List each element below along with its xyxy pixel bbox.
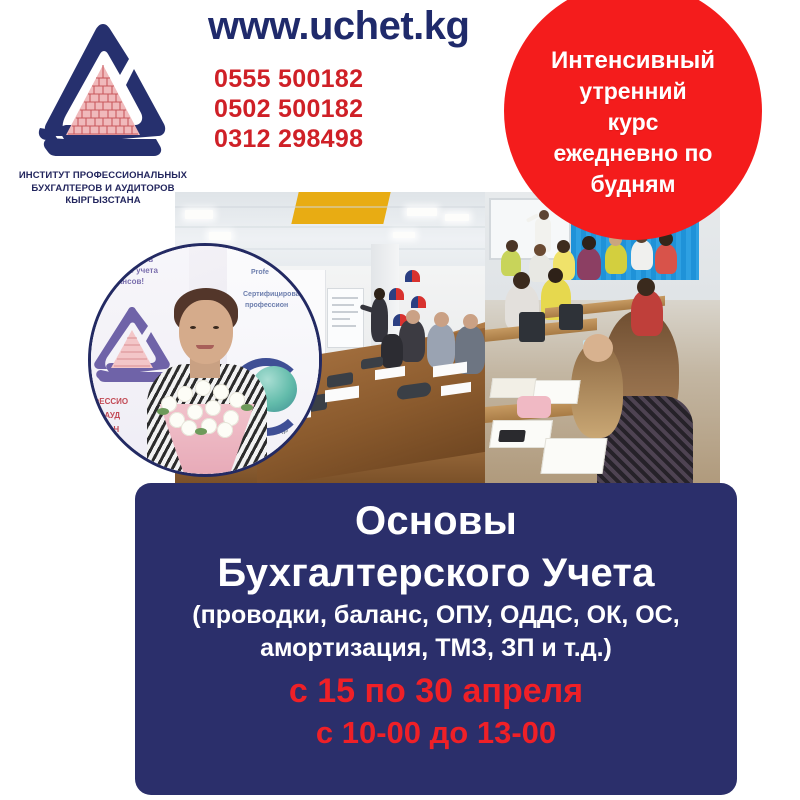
ceiling-seam: [175, 226, 485, 228]
student: [631, 240, 653, 270]
ceiling-seam: [175, 206, 485, 208]
participant-head: [406, 310, 420, 324]
course-topics-line-2: амортизация, ТМЗ, ЗП и т.д.): [260, 632, 612, 665]
open-book: [540, 438, 607, 474]
phone-number-2[interactable]: 0502 500182: [214, 94, 363, 124]
student-head: [534, 244, 546, 256]
course-info-panel: Основы Бухгалтерского Учета (проводки, б…: [135, 483, 737, 795]
phone-number-1[interactable]: 0555 500182: [214, 64, 363, 94]
ceiling-yellow-panel: [291, 192, 390, 224]
chair: [519, 312, 545, 342]
portrait-banner-text-1: апов в: [127, 254, 153, 265]
portrait-banner-text-2: кого учета: [117, 265, 158, 276]
wall-logo-mark: [411, 296, 426, 308]
badge-line-5: будням: [526, 169, 740, 200]
portrait-banner-text-4: РОФЕССИО: [88, 396, 128, 407]
smartphone: [498, 430, 526, 442]
portrait-banner-text-3: нансов!: [113, 276, 144, 287]
phone-number-list: 0555 500182 0502 500182 0312 298498: [214, 64, 363, 154]
chair: [559, 304, 583, 330]
instructor-eye-left: [190, 326, 196, 329]
course-title-line-1: Основы: [355, 495, 517, 547]
badge-line-4: ежедневно по: [526, 138, 740, 169]
website-url[interactable]: www.uchet.kg: [208, 4, 469, 49]
logo-caption-line-1: ИНСТИТУТ ПРОФЕССИОНАЛЬНЫХ: [8, 170, 198, 183]
course-time: с 10-00 до 13-00: [316, 713, 556, 753]
participant-head: [463, 314, 478, 329]
student-head: [557, 240, 570, 253]
ceiling-light: [185, 210, 213, 219]
badge-text: Интенсивный утренний курс ежедневно по б…: [526, 23, 740, 200]
student: [577, 248, 601, 280]
course-topics-line-1: (проводки, баланс, ОПУ, ОДДС, ОК, ОС,: [192, 599, 679, 632]
phone-number-3[interactable]: 0312 298498: [214, 124, 363, 154]
portrait-right-text-2: Сертифицирова: [243, 290, 300, 300]
teacher-head: [539, 210, 549, 220]
notebook: [490, 378, 537, 398]
organization-logo-block: ИНСТИТУТ ПРОФЕССИОНАЛЬНЫХ БУХГАЛТЕРОВ и …: [8, 18, 198, 208]
student: [605, 244, 627, 274]
flipchart: [327, 288, 364, 348]
portrait-banner-text-5: ОВ и АУД: [88, 410, 120, 421]
wall-logo-mark: [405, 270, 420, 282]
logo-caption-line-3: КЫРГЫЗСТАНА: [8, 195, 198, 208]
instructor-mouth: [196, 345, 214, 349]
instructor-face: [179, 300, 233, 364]
pink-pouch: [517, 396, 551, 418]
ipba-triangle-logo-icon: [28, 18, 178, 168]
student-head: [506, 240, 518, 252]
badge-line-1: Интенсивный: [526, 45, 740, 76]
participant: [427, 324, 455, 368]
student-head: [637, 278, 655, 296]
course-title-line-2: Бухгалтерского Учета: [217, 547, 654, 599]
presenter-head: [374, 288, 385, 300]
intensive-course-badge: Интенсивный утренний курс ежедневно по б…: [504, 0, 762, 240]
portrait-right-text-3: профессион: [245, 301, 288, 311]
instructor-eye-right: [213, 326, 219, 329]
wall-logo-mark: [389, 288, 404, 300]
badge-line-3: курс: [526, 107, 740, 138]
badge-line-2: утренний: [526, 76, 740, 107]
ceiling-light: [209, 232, 231, 240]
participant: [381, 334, 403, 368]
ceiling-light: [393, 232, 415, 238]
student: [631, 290, 663, 336]
ceiling-light: [407, 208, 437, 216]
student-head: [548, 268, 563, 283]
logo-caption-line-2: БУХГАЛТЕРОВ и АУДИТОРОВ: [8, 183, 198, 196]
instructor-with-flowers-portrait: апов в кого учета нансов! РОФЕССИО ОВ и …: [88, 243, 322, 477]
student-head: [582, 236, 596, 250]
flower-bouquet: [151, 378, 263, 434]
course-dates: с 15 по 30 апреля: [289, 669, 583, 713]
flyer-canvas: ИНСТИТУТ ПРОФЕССИОНАЛЬНЫХ БУХГАЛТЕРОВ и …: [0, 0, 800, 800]
ceiling-light: [445, 214, 469, 221]
student: [655, 244, 677, 274]
logo-caption: ИНСТИТУТ ПРОФЕССИОНАЛЬНЫХ БУХГАЛТЕРОВ и …: [8, 170, 198, 208]
student-head: [513, 272, 530, 289]
participant-head: [434, 312, 449, 327]
foreground-student-head: [583, 334, 613, 362]
portrait-banner-text-6: ЫЗСТАН: [88, 424, 119, 435]
portrait-right-text-1: Profe: [251, 268, 269, 278]
